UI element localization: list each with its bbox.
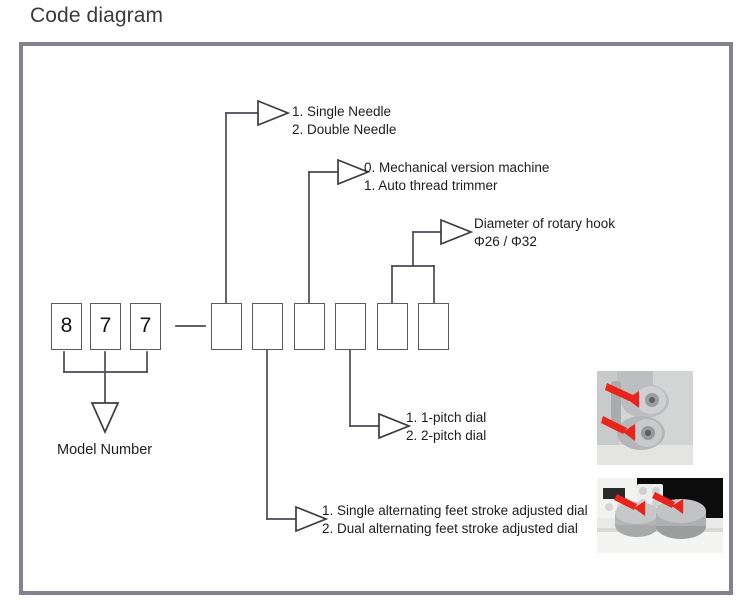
callout-pitch-dial: 1. 1-pitch dial 2. 2-pitch dial [406,409,486,445]
callout-alternating-feet-line-2: 2. Dual alternating feet stroke adjusted… [322,520,588,538]
callout-needle: 1. Single Needle 2. Double Needle [292,103,396,139]
callout-needle-line-2: 2. Double Needle [292,121,396,139]
blank-box-1 [211,303,242,350]
model-number-label: Model Number [57,442,152,458]
callout-pitch-dial-line-1: 1. 1-pitch dial [406,409,486,427]
callout-rotary-hook-line-1: Diameter of rotary hook [474,215,615,233]
digit-box-1: 8 [51,303,82,350]
digit-box-3: 7 [130,303,161,350]
callout-version: 0. Mechanical version machine 1. Auto th… [364,159,549,195]
feet-stroke-photo [597,478,723,553]
digit-box-2: 7 [90,303,121,350]
blank-box-6 [418,303,449,350]
blank-box-4 [335,303,366,350]
blank-box-3 [294,303,325,350]
blank-box-2 [252,303,283,350]
callout-rotary-hook: Diameter of rotary hook Φ26 / Φ32 [474,215,615,251]
callout-needle-line-1: 1. Single Needle [292,103,396,121]
rotary-hook-photo [597,371,693,465]
callout-alternating-feet-line-1: 1. Single alternating feet stroke adjust… [322,502,588,520]
arrowhead-rotary-hook [441,220,471,244]
callout-pitch-dial-line-2: 2. 2-pitch dial [406,427,486,445]
blank-box-5 [377,303,408,350]
callout-rotary-hook-line-2: Φ26 / Φ32 [474,233,615,251]
callout-version-line-2: 1. Auto thread trimmer [364,177,549,195]
callout-alternating-feet: 1. Single alternating feet stroke adjust… [322,502,588,538]
arrowhead-model-number [92,403,118,432]
arrowhead-pitch-dial [379,414,409,438]
arrowhead-needle [258,101,288,125]
callout-version-line-1: 0. Mechanical version machine [364,159,549,177]
